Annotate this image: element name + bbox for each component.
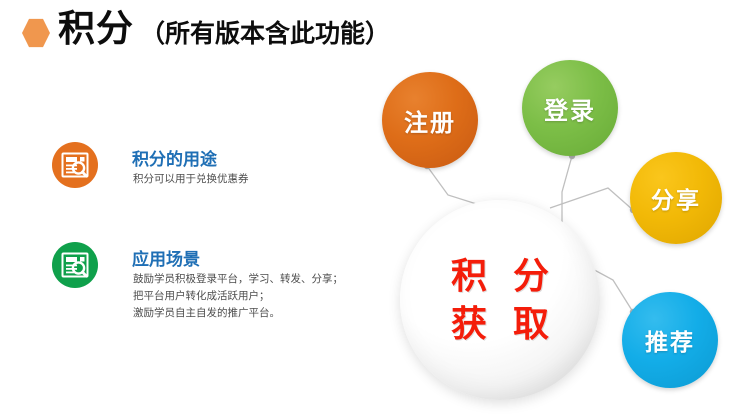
node-bubble-register[interactable]: 注册 — [382, 72, 478, 168]
feature-block-scenario: 应用场景 鼓励学员积极登录平台，学习、转发、分享； 把平台用户转化成活跃用户； … — [52, 242, 352, 352]
feature-description-line: 激励学员自主自发的推广平台。 — [133, 305, 343, 322]
node-bubble-recommend[interactable]: 推荐 — [622, 292, 718, 388]
page-title: 积分 — [58, 6, 134, 52]
node-bubble-share[interactable]: 分享 — [630, 152, 722, 244]
feature-description-line: 把平台用户转化成活跃用户； — [133, 288, 343, 305]
feature-description-line: 鼓励学员积极登录平台，学习、转发、分享； — [133, 271, 343, 288]
feature-title: 应用场景 — [132, 245, 200, 270]
feature-block-usage: 积分的用途 积分可以用于兑换优惠券 — [52, 142, 332, 212]
slide-canvas: 积分 （所有版本含此功能） 积分的用途 积分可以用于兑换优惠券 — [0, 0, 750, 416]
hexagon-icon — [22, 18, 50, 48]
feature-description: 积分可以用于兑换优惠券 — [133, 171, 249, 188]
hub-label-line-2: 获 取 — [443, 300, 557, 348]
hub-label-line-1: 积 分 — [443, 252, 557, 300]
report-search-icon — [52, 142, 98, 188]
hub-sphere: 积 分 获 取 — [400, 200, 600, 400]
node-bubble-login[interactable]: 登录 — [522, 60, 618, 156]
points-acquisition-diagram: 注册 登录 分享 推荐 积 分 获 取 — [350, 40, 750, 416]
feature-description: 鼓励学员积极登录平台，学习、转发、分享； 把平台用户转化成活跃用户； 激励学员自… — [133, 271, 343, 322]
report-search-icon — [52, 242, 98, 288]
feature-title: 积分的用途 — [132, 145, 217, 170]
